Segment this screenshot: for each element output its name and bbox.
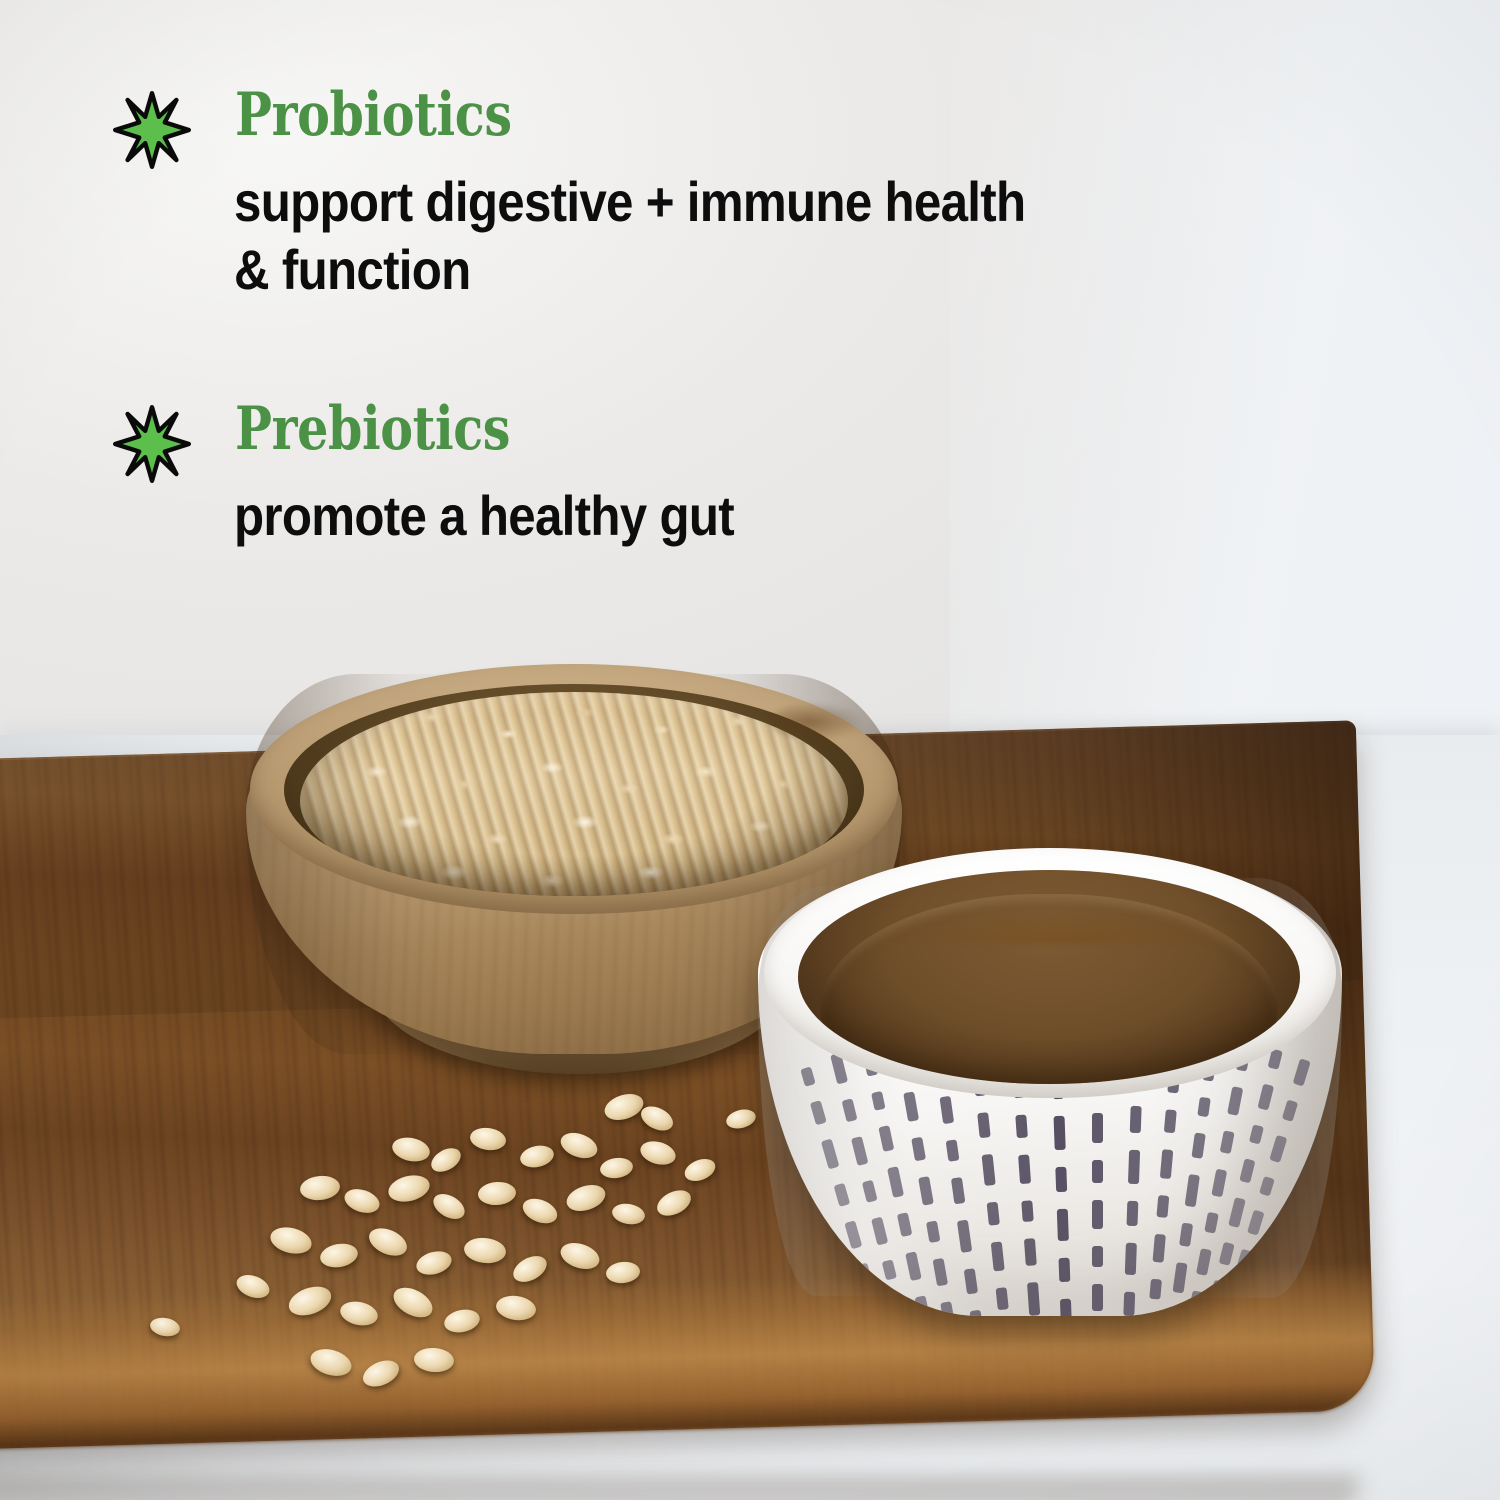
product-benefit-graphic: Probiotics support digestive + immune he…	[0, 0, 1500, 1500]
powder-crest-shadow	[858, 910, 1278, 944]
eight-point-star-icon	[112, 90, 192, 170]
board-drop-shadow	[0, 1476, 1360, 1500]
benefit-headline-probiotics: Probiotics	[235, 84, 512, 146]
ceramic-dash	[867, 1299, 885, 1316]
ceramic-dash	[1167, 1309, 1181, 1316]
eight-point-star-icon	[112, 404, 192, 484]
ceramic-dash	[890, 1295, 907, 1316]
wall-right-gradient	[950, 0, 1500, 760]
wooden-bowl-rim-nick	[770, 702, 866, 742]
brown-powder-heap	[820, 894, 1278, 1084]
benefit-subline-prebiotics: promote a healthy gut	[234, 482, 734, 550]
ceramic-bowl-with-powder	[740, 826, 1360, 1336]
ceramic-bowl-interior	[798, 870, 1300, 1084]
benefit-subline-probiotics: support digestive + immune health & func…	[234, 168, 1025, 305]
benefit-headline-prebiotics: Prebiotics	[235, 398, 510, 460]
